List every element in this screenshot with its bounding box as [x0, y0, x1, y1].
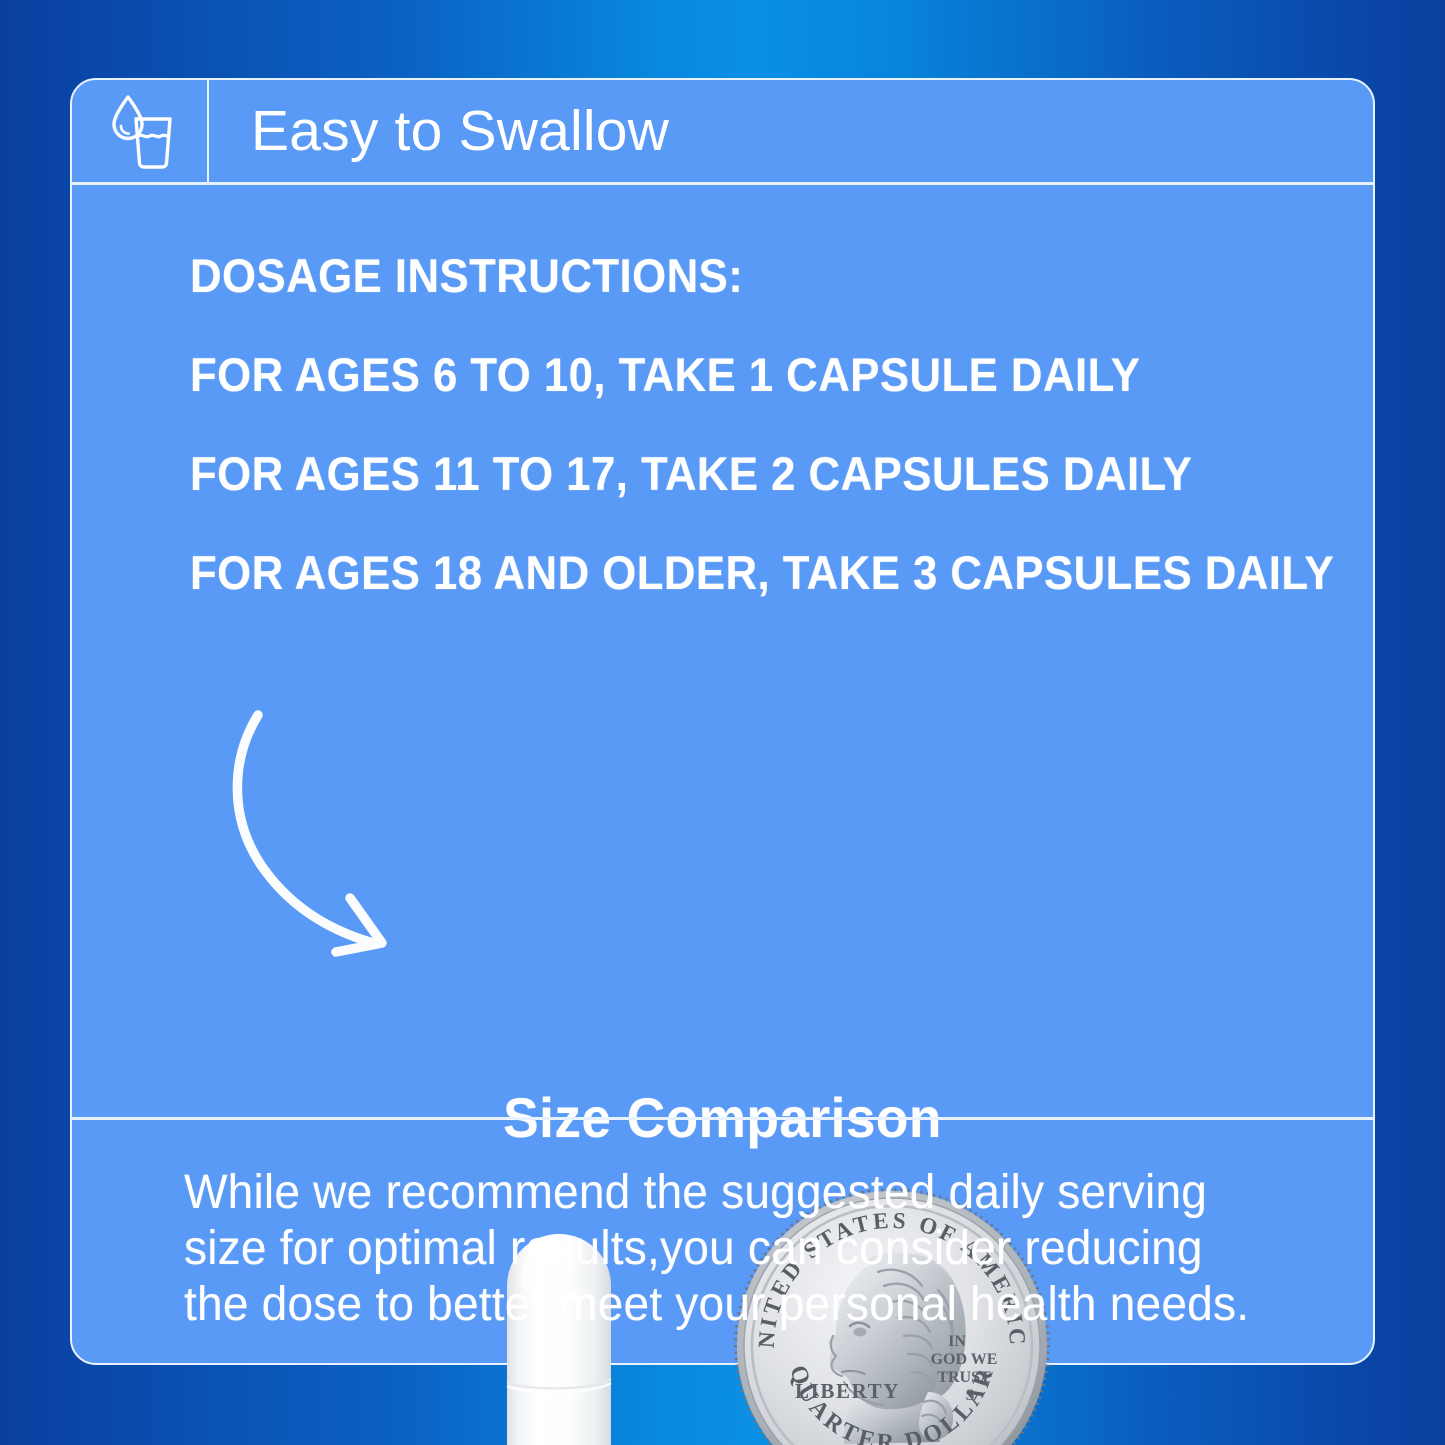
- coin-motto-line3: TRUST: [937, 1369, 991, 1386]
- dosage-line-ages-18-older: FOR AGES 18 AND OLDER, TAKE 3 CAPSULES D…: [190, 549, 1232, 596]
- coin-motto-line2: GOD WE: [931, 1351, 998, 1368]
- coin-liberty: LIBERTY: [795, 1379, 900, 1403]
- dosage-line-ages-11-17: FOR AGES 11 TO 17, TAKE 2 CAPSULES DAILY: [190, 450, 1232, 497]
- footer-note: While we recommend the suggested daily s…: [184, 1165, 1264, 1333]
- coin-mint-mark: S: [966, 1387, 975, 1404]
- coin-motto-line1: IN: [948, 1333, 966, 1350]
- header-vertical-divider: [207, 80, 209, 182]
- info-card: Easy to Swallow DOSAGE INSTRUCTIONS: FOR…: [70, 78, 1375, 1365]
- page-title: Easy to Swallow: [207, 103, 669, 160]
- dosage-heading: DOSAGE INSTRUCTIONS:: [190, 252, 1232, 299]
- size-comparison-visual: UNITED STATES OF AMERICA QUARTER DOLLAR …: [72, 620, 1373, 1117]
- card-header: Easy to Swallow: [72, 80, 1373, 182]
- footer-divider: [72, 1117, 1373, 1120]
- water-glass-droplet-icon: [72, 80, 207, 182]
- promo-graphic: Easy to Swallow DOSAGE INSTRUCTIONS: FOR…: [0, 0, 1445, 1445]
- dosage-line-ages-6-10: FOR AGES 6 TO 10, TAKE 1 CAPSULE DAILY: [190, 351, 1232, 398]
- header-horizontal-divider: [72, 182, 1373, 185]
- dosage-instructions: DOSAGE INSTRUCTIONS: FOR AGES 6 TO 10, T…: [190, 252, 1310, 596]
- curved-arrow-icon: [217, 705, 417, 965]
